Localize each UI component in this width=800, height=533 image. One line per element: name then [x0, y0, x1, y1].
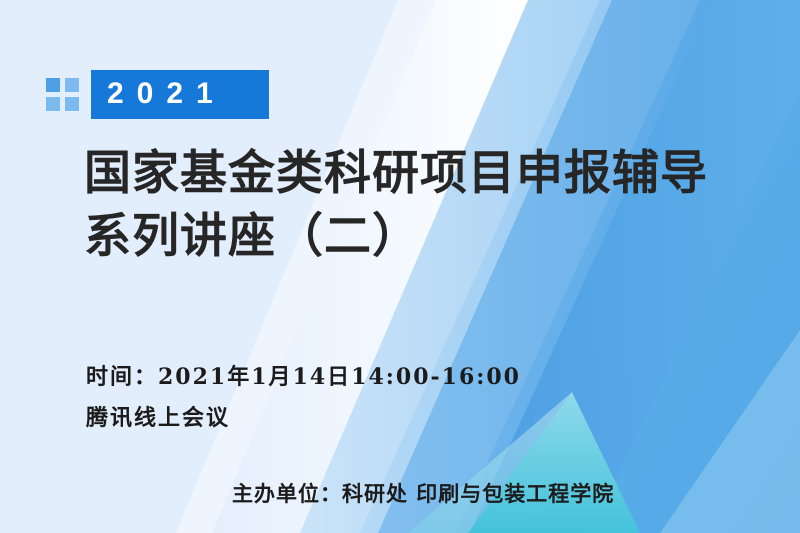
year-badge-row: 2021 — [46, 70, 269, 119]
event-organizer: 主办单位：科研处 印刷与包装工程学院 — [232, 478, 614, 508]
square-top-left — [46, 78, 60, 92]
title-line-2: 系列讲座（二） — [84, 206, 708, 269]
year-badge: 2021 — [91, 70, 269, 119]
event-info: 时间：2021年1月14日14:00-16:00 腾讯线上会议 — [86, 357, 521, 438]
square-top-right — [65, 78, 79, 92]
square-bottom-left — [46, 97, 60, 111]
page-title: 国家基金类科研项目申报辅导 系列讲座（二） — [84, 143, 708, 268]
event-venue: 腾讯线上会议 — [86, 398, 521, 439]
title-line-1: 国家基金类科研项目申报辅导 — [84, 143, 708, 206]
grid-four-squares-icon — [46, 78, 79, 111]
event-time: 时间：2021年1月14日14:00-16:00 — [86, 357, 521, 398]
square-bottom-right — [65, 97, 79, 111]
event-poster: 2021 国家基金类科研项目申报辅导 系列讲座（二） 时间：2021年1月14日… — [0, 0, 800, 533]
